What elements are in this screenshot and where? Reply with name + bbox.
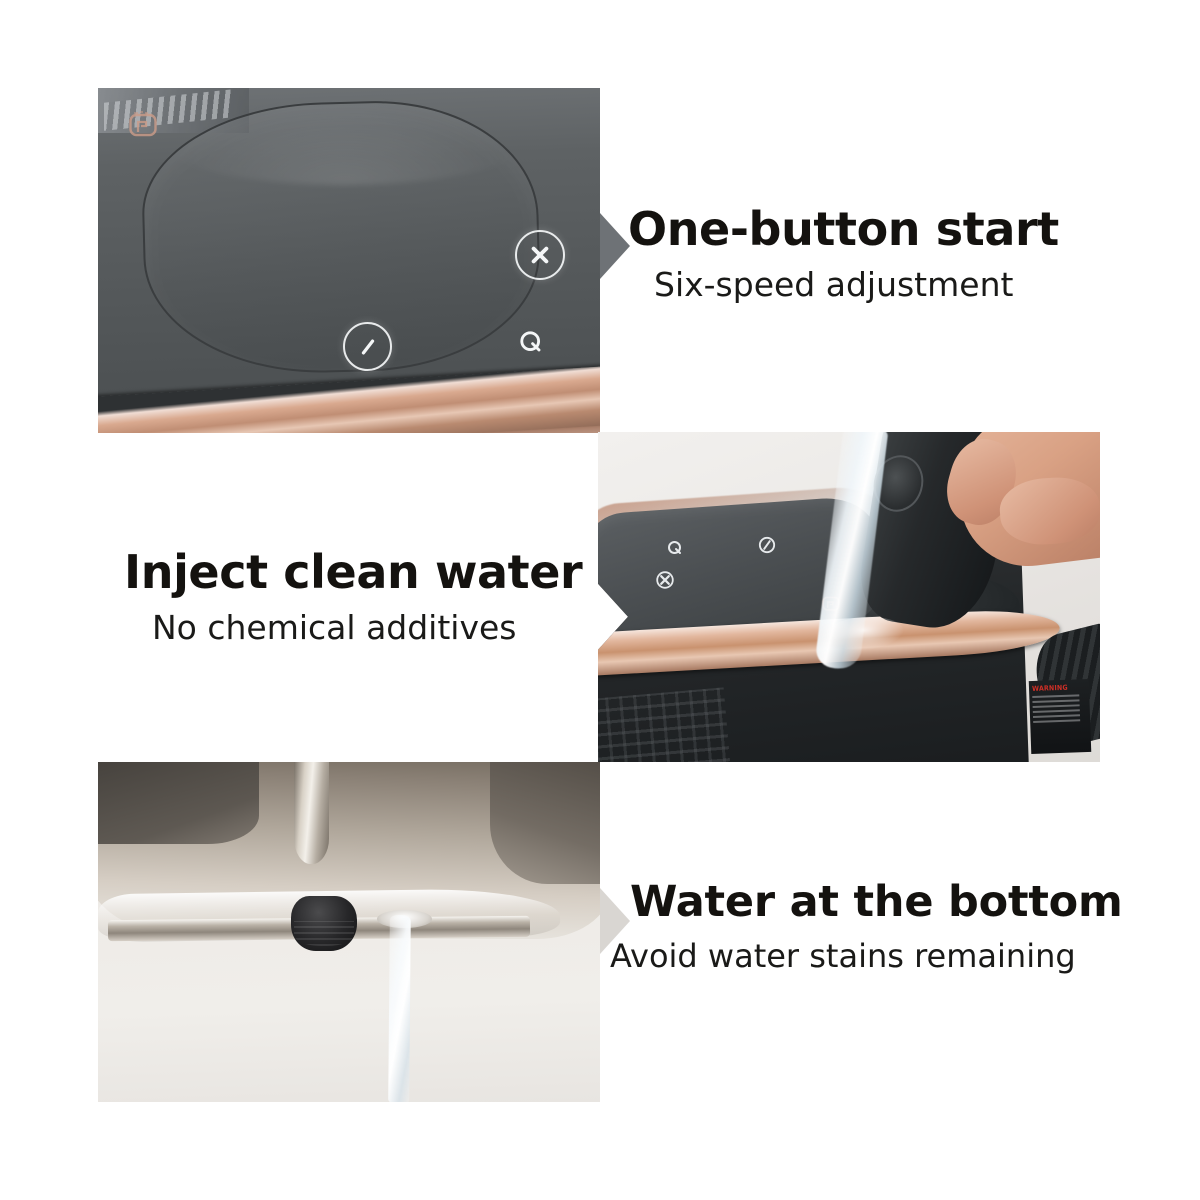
underside-shadow-left	[98, 762, 259, 844]
power-slash-icon[interactable]	[343, 322, 392, 371]
feature-image-one-button-start	[98, 88, 600, 433]
underside-shadow-right	[490, 762, 600, 884]
draining-water-stream	[388, 914, 411, 1102]
warning-label: WARNING	[1028, 678, 1091, 753]
feature-image-inject-clean-water: WARNING	[598, 432, 1100, 762]
q-mode-icon[interactable]	[507, 318, 555, 366]
feature-headline: Inject clean water	[124, 548, 594, 596]
feature-text-inject-clean-water: Inject clean water No chemical additives	[124, 548, 594, 647]
steam-burst-icon[interactable]	[650, 565, 680, 595]
pointer-chevron-feature-1	[600, 213, 630, 279]
body-vent-texture	[598, 688, 730, 762]
feature-headline: Water at the bottom	[630, 880, 1100, 925]
drain-plug[interactable]	[291, 896, 356, 950]
metal-tube	[294, 762, 329, 864]
steam-burst-icon[interactable]	[515, 230, 565, 280]
feature-subline: Six-speed adjustment	[654, 267, 1088, 303]
feature-subline: Avoid water stains remaining	[610, 939, 1100, 974]
brand-logo-icon	[126, 108, 160, 138]
touch-plate-outline	[140, 97, 542, 377]
feature-headline: One-button start	[628, 205, 1088, 253]
power-slash-icon[interactable]	[753, 531, 781, 559]
feature-subline: No chemical additives	[152, 610, 594, 646]
feature-text-one-button-start: One-button start Six-speed adjustment	[628, 205, 1088, 304]
product-feature-infographic: One-button start Six-speed adjustment In…	[0, 0, 1200, 1200]
feature-text-water-at-the-bottom: Water at the bottom Avoid water stains r…	[630, 880, 1100, 974]
q-mode-icon[interactable]	[662, 535, 688, 561]
feature-image-water-at-the-bottom	[98, 762, 600, 1102]
warning-label-title: WARNING	[1032, 683, 1081, 693]
